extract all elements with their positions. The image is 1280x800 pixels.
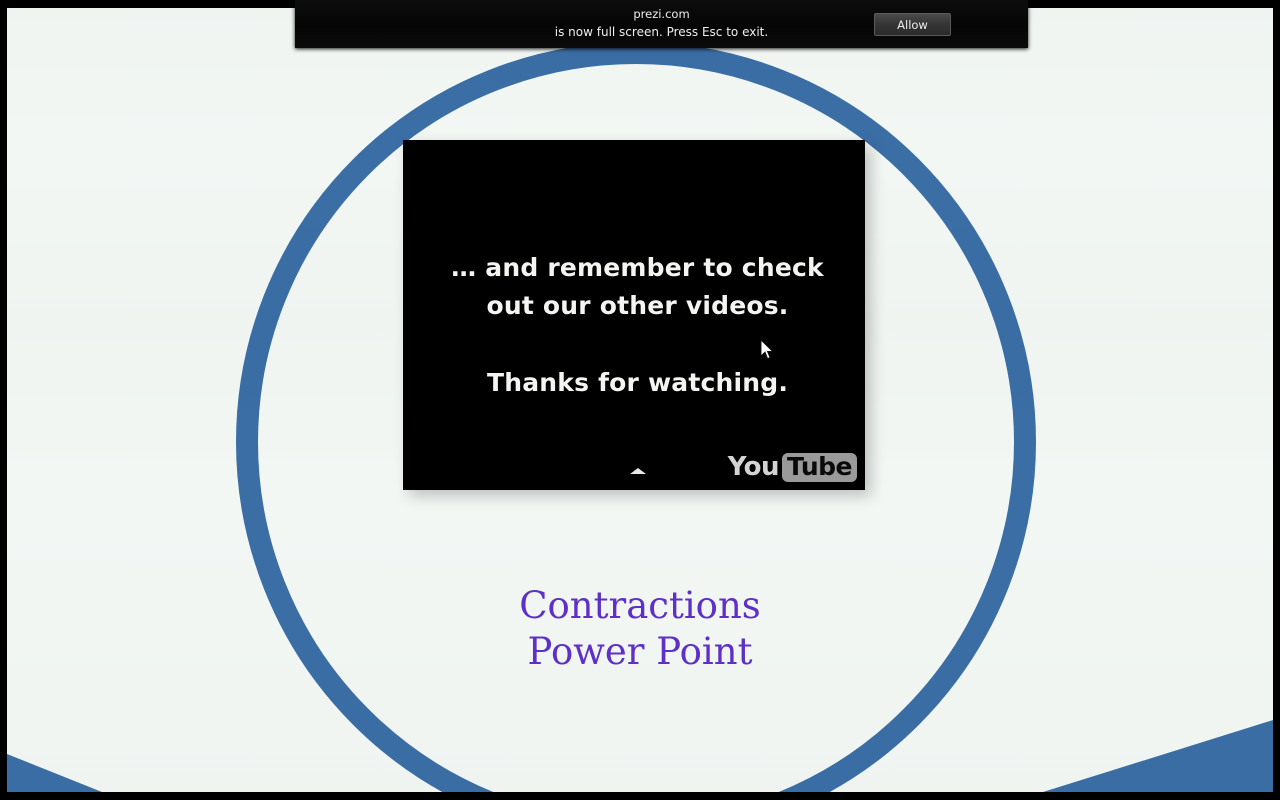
video-caption-line-1: … and remember to check	[410, 253, 865, 282]
embedded-youtube-player[interactable]: … and remember to check out our other vi…	[410, 148, 865, 490]
youtube-logo[interactable]: You Tube	[728, 453, 857, 481]
browser-fullscreen-screen: Contractions Power Point … and remember …	[0, 0, 1280, 800]
slide-title: Contractions Power Point	[7, 583, 1273, 675]
decorative-blue-wedge-left	[7, 754, 102, 792]
slide-title-line-1: Contractions	[7, 583, 1273, 629]
youtube-logo-you-text: You	[728, 454, 779, 480]
show-controls-caret-icon[interactable]	[630, 468, 646, 474]
decorative-blue-wedge-right	[1043, 720, 1273, 792]
fullscreen-notification-bar: prezi.com is now full screen. Press Esc …	[295, 0, 1028, 48]
video-caption-line-2: out our other videos.	[410, 291, 865, 320]
slide-title-line-2: Power Point	[7, 629, 1273, 675]
video-caption-line-3: Thanks for watching.	[410, 368, 865, 397]
youtube-logo-tube-badge: Tube	[782, 453, 857, 482]
allow-button[interactable]: Allow	[874, 13, 951, 36]
